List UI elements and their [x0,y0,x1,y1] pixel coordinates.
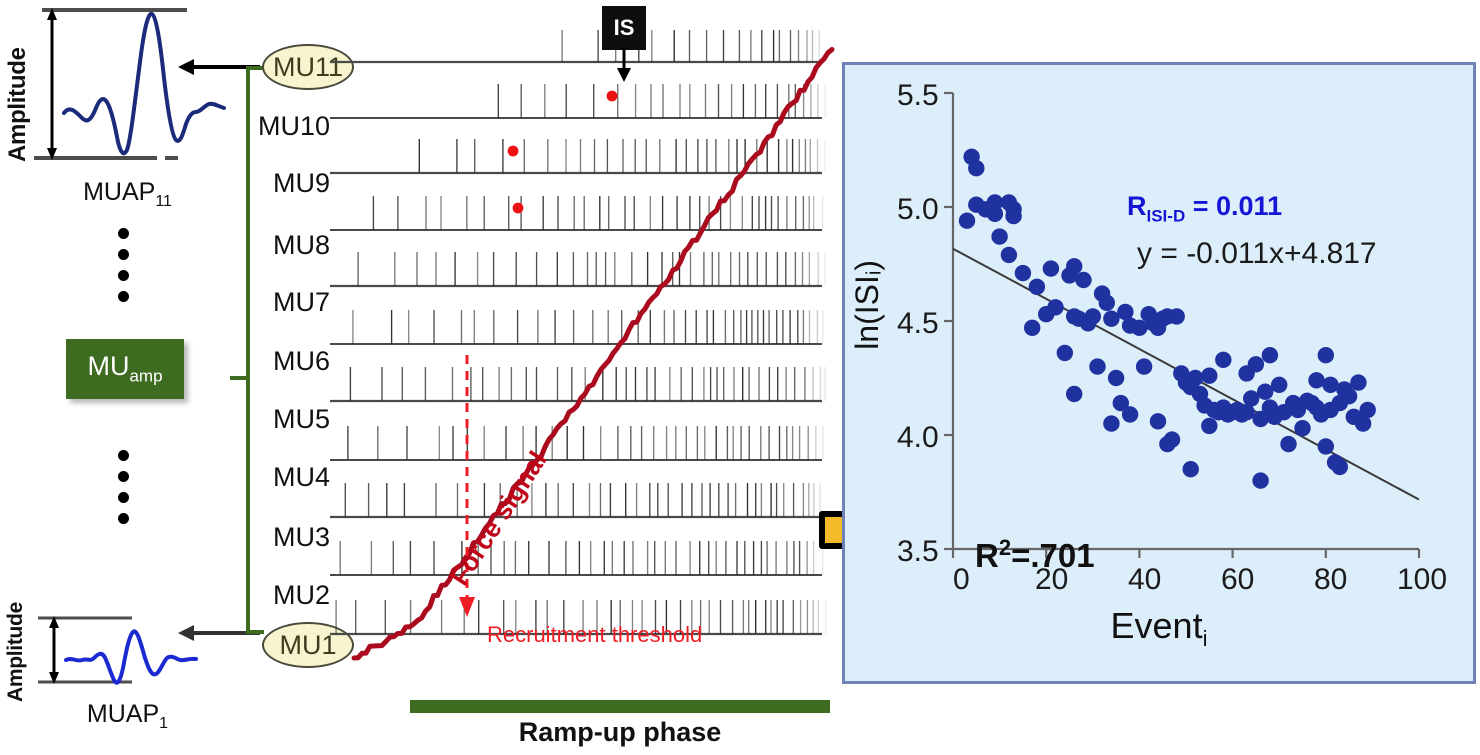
mu-label-mu6: MU6 [273,346,330,377]
is-arrow-icon [613,48,637,84]
recruitment-threshold-label: Recruitment threshold [487,622,702,648]
r-squared-annotation: R2=.701 [975,535,1095,575]
mu-label-mu3: MU3 [273,522,330,553]
amplitude-label-bottom: Amplitude [4,592,28,702]
ramp-up-label: Ramp-up phase [330,717,910,748]
muap-bottom-caption: MUAP1 [0,700,255,733]
muap-bottom-panel: Amplitude MUAP1 [0,588,255,718]
is-badge: IS [602,6,646,50]
muap-top-waveform [32,0,232,175]
scatter-plot-area [845,65,1473,681]
ellipsis-dots-lower [118,440,132,534]
mu-amp-box: MUamp [66,339,184,399]
muap-top-panel: Amplitude MUAP11 [0,0,255,200]
spike-train-panel [330,30,840,670]
muap-bottom-waveform [30,600,230,710]
muap-top-caption: MUAP11 [0,178,255,211]
scatter-x-axis-label: Eventi [845,605,1473,652]
isi-scatter-panel: ln(ISIi) 5.5 5.0 4.5 4.0 3.5 0 20 40 60 … [842,62,1476,684]
mu-label-mu5: MU5 [273,404,330,435]
r-isi-d-annotation: RISI-D = 0.011 [1127,191,1282,226]
mu-label-mu2: MU2 [273,580,330,611]
mu-label-mu9: MU9 [273,168,330,199]
mu-label-mu10: MU10 [258,111,330,142]
mu-label-mu7: MU7 [273,287,330,318]
mu-label-mu4: MU4 [273,462,330,493]
mu-label-mu8: MU8 [273,230,330,261]
amplitude-label-top: Amplitude [4,6,32,162]
ramp-up-bar [410,700,830,713]
ellipsis-dots-upper [118,218,132,312]
spike-trains [330,30,840,670]
regression-equation: y = -0.011x+4.817 [1137,237,1377,271]
mu-label-column: MU11 MU10 MU9 MU8 MU7 MU6 MU5 MU4 MU3 MU… [258,0,330,755]
